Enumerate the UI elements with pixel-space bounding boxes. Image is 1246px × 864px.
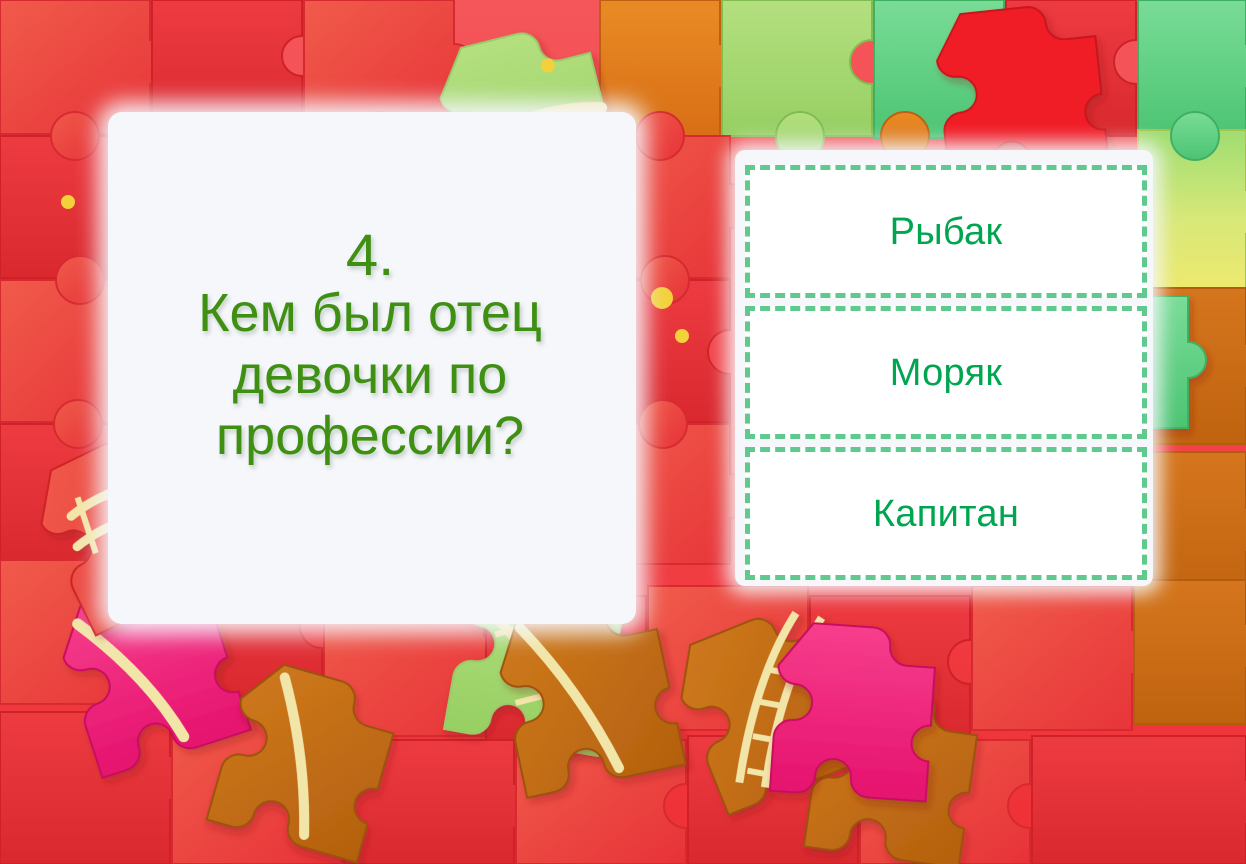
answer-option-2-label: Моряк xyxy=(890,354,1003,392)
question-text: Кем был отец девочки по профессии? xyxy=(110,283,630,468)
answer-option-3-label: Капитан xyxy=(873,495,1019,533)
quiz-slide: 4. Кем был отец девочки по профессии? Ры… xyxy=(0,0,1246,864)
question-block: 4. Кем был отец девочки по профессии? xyxy=(110,226,630,468)
question-number: 4. xyxy=(110,226,630,285)
answer-option-1[interactable]: Рыбак xyxy=(745,165,1147,298)
answer-option-3[interactable]: Капитан xyxy=(745,447,1147,580)
answer-options-list: Рыбак Моряк Капитан xyxy=(745,165,1147,580)
answer-option-2[interactable]: Моряк xyxy=(745,306,1147,439)
answer-option-1-label: Рыбак xyxy=(890,213,1003,251)
